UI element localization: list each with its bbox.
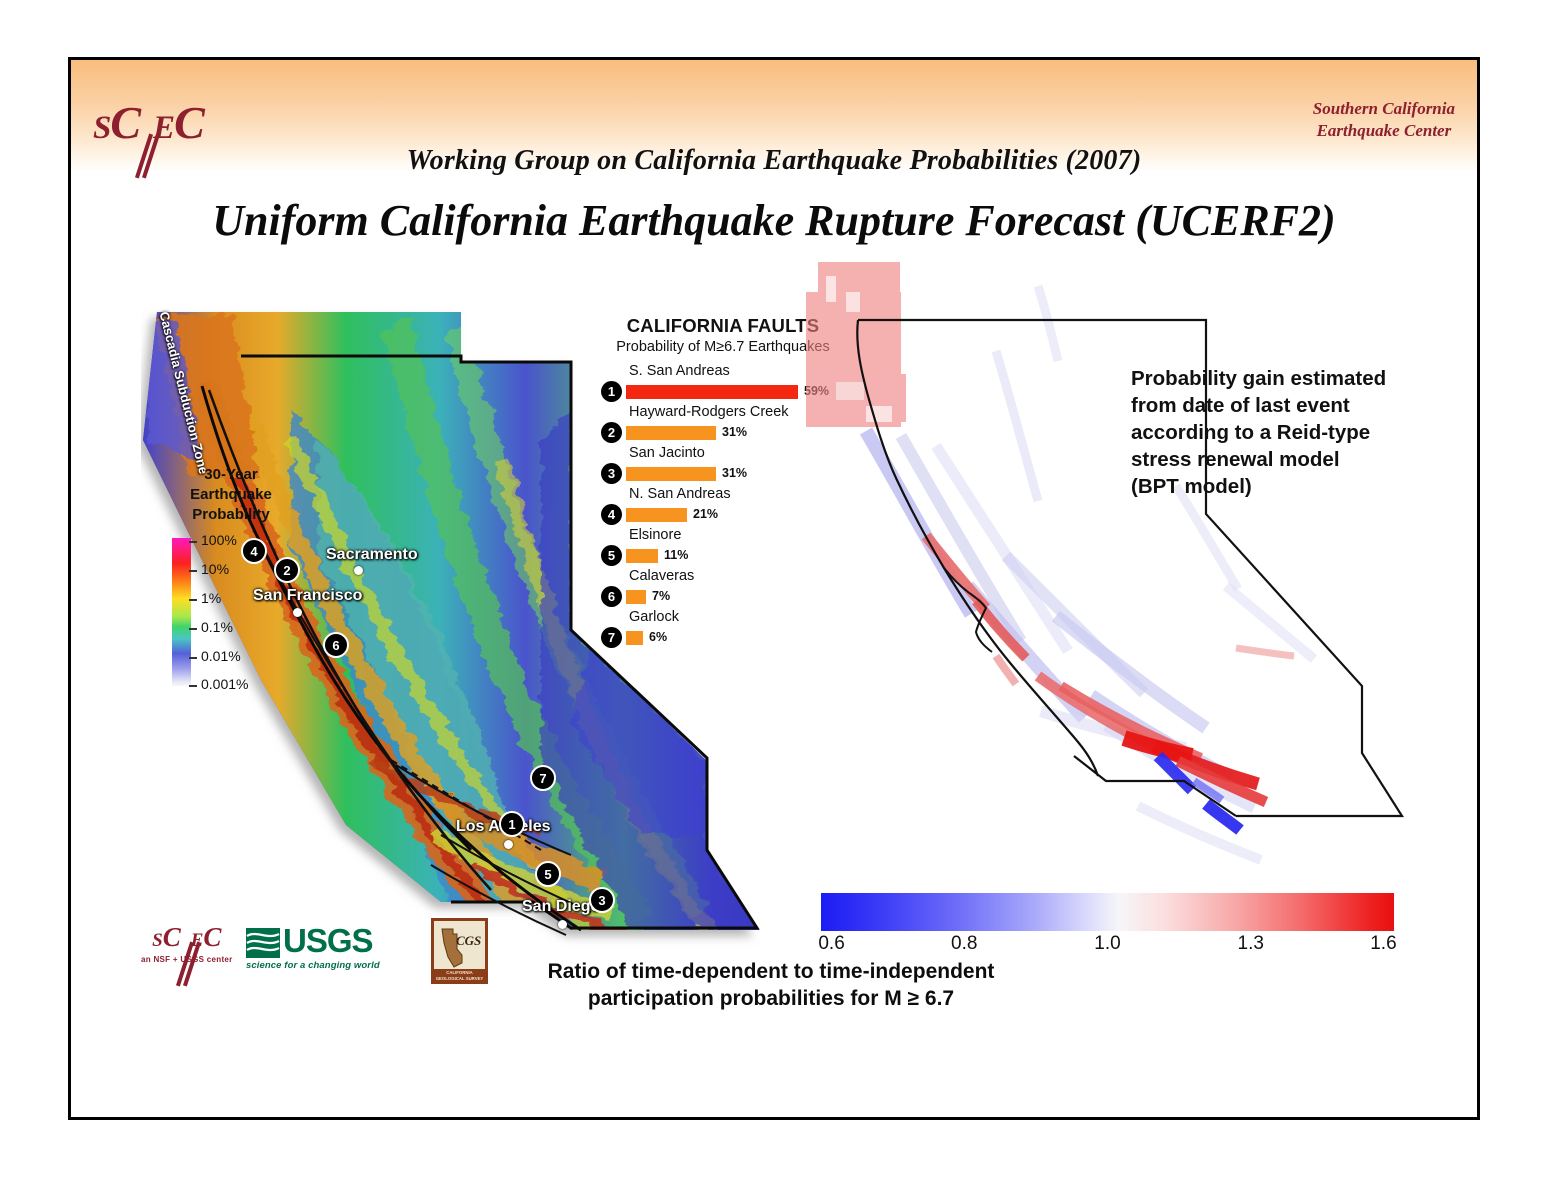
scec-footer-logo: SCEC an NSF + USGS center	[141, 922, 233, 964]
probability-scale: 100% 10% 1% 0.1% 0.01% 0.001%	[156, 538, 306, 688]
fault-name: Elsinore	[629, 527, 681, 543]
cgs-wordmark: CGS	[456, 933, 481, 949]
fault-badge-3[interactable]: 3	[601, 463, 622, 484]
fault-percent: 11%	[664, 548, 688, 562]
working-group-subtitle: Working Group on California Earthquake P…	[71, 145, 1477, 177]
fault-name: S. San Andreas	[629, 363, 730, 379]
fault-bar	[626, 590, 646, 604]
fault-badge-7[interactable]: 7	[601, 627, 622, 648]
city-dot-los-angeles	[504, 840, 513, 849]
scec-logo: SCEC	[93, 96, 204, 149]
fault-badge-5[interactable]: 5	[601, 545, 622, 566]
city-dot-sacramento	[354, 566, 363, 575]
scec-footer-acronym: SCEC	[141, 922, 233, 953]
probability-tick-label-1: 1%	[201, 590, 221, 606]
scec-logo-c: C	[110, 97, 140, 148]
ratio-caption-line1: Ratio of time-dependent to time-independ…	[431, 958, 1111, 985]
fault-bar	[626, 508, 687, 522]
probability-gain-description: Probability gain estimatedfrom date of l…	[1131, 365, 1451, 500]
probability-tick-mark-4	[189, 657, 197, 659]
fault-marker-1[interactable]: 1	[499, 811, 525, 837]
fault-bar	[626, 426, 716, 440]
fault-bar	[626, 385, 798, 399]
probability-legend-title-line2: Earthquake	[156, 485, 306, 505]
cascadia-gain-block	[806, 262, 906, 427]
city-dot-san-diego	[558, 920, 567, 929]
probability-tick-mark-0	[189, 541, 197, 543]
ratio-tick-1.6: 1.6	[1370, 933, 1396, 955]
right-map-panel	[806, 256, 1426, 916]
probability-tick-mark-1	[189, 570, 197, 572]
ratio-tick-0.8: 0.8	[951, 933, 977, 955]
fault-percent: 21%	[693, 507, 718, 521]
fault-percent: 7%	[652, 589, 670, 603]
gain-description-line-3: according to a Reid-type	[1131, 419, 1451, 446]
scec-logo-c2: C	[174, 97, 204, 148]
fault-bar	[626, 467, 716, 481]
probability-tick-label-0-1: 0.1%	[201, 619, 233, 635]
probability-tick-mark-3	[189, 628, 197, 630]
fault-badge-4[interactable]: 4	[601, 504, 622, 525]
fault-bar	[626, 549, 658, 563]
fault-percent: 6%	[649, 630, 667, 644]
probability-tick-label-100: 100%	[201, 532, 237, 548]
fault-name: San Jacinto	[629, 445, 705, 461]
usgs-wordmark-row: USGS	[246, 924, 380, 958]
fault-marker-6[interactable]: 6	[323, 632, 349, 658]
usgs-wordmark: USGS	[283, 922, 373, 959]
fault-name: Hayward-Rodgers Creek	[629, 404, 789, 420]
fault-bar	[626, 631, 643, 645]
usgs-wave-icon	[246, 928, 280, 958]
fault-name: Calaveras	[629, 568, 694, 584]
ratio-colorbar	[821, 893, 1394, 931]
org-name-line2: Earthquake Center	[1313, 120, 1455, 142]
probability-tick-mark-5	[189, 685, 197, 687]
gain-description-line-1: Probability gain estimated	[1131, 365, 1451, 392]
org-name: Southern California Earthquake Center	[1313, 98, 1455, 142]
logo-strip: SCEC an NSF + USGS center USGS science f…	[141, 918, 471, 988]
probability-tick-label-0-01: 0.01%	[201, 648, 241, 664]
probability-legend-title-line3: Probability	[156, 505, 306, 525]
ratio-tick-1.3: 1.3	[1238, 933, 1264, 955]
city-label-sacramento: Sacramento	[326, 546, 418, 564]
fault-marker-7[interactable]: 7	[530, 765, 556, 791]
probability-colorbar	[172, 538, 191, 686]
probability-legend-title-line1: 30-Year	[156, 465, 306, 485]
ratio-tick-1.0: 1.0	[1094, 933, 1120, 955]
probability-color-legend: 30-Year Earthquake Probability 100% 10% …	[156, 465, 306, 688]
usgs-tagline: science for a changing world	[246, 960, 380, 971]
probability-gain-map	[806, 256, 1426, 916]
org-name-line1: Southern California	[1313, 98, 1455, 120]
fault-name: Garlock	[629, 609, 679, 625]
poster-frame: SCEC Southern California Earthquake Cent…	[68, 57, 1480, 1120]
gain-description-line-4: stress renewal model	[1131, 446, 1451, 473]
fault-badge-6[interactable]: 6	[601, 586, 622, 607]
probability-legend-title: 30-Year Earthquake Probability	[156, 465, 306, 524]
ratio-tick-0.6: 0.6	[818, 933, 844, 955]
ratio-colorbar-caption: Ratio of time-dependent to time-independ…	[431, 958, 1111, 1013]
page-title: Uniform California Earthquake Rupture Fo…	[71, 195, 1477, 246]
gain-description-line-2: from date of last event	[1131, 392, 1451, 419]
scec-footer-s: S	[152, 930, 163, 951]
usgs-logo: USGS science for a changing world	[246, 924, 380, 971]
fault-marker-5[interactable]: 5	[535, 861, 561, 887]
probability-tick-label-0-001: 0.001%	[201, 676, 248, 692]
gain-description-line-5: (BPT model)	[1131, 473, 1451, 500]
ratio-caption-line2: participation probabilities for M ≥ 6.7	[431, 985, 1111, 1012]
scec-logo-s: S	[93, 110, 110, 146]
fault-percent: 31%	[722, 466, 747, 480]
fault-percent: 31%	[722, 425, 747, 439]
ratio-colorbar-group: 0.60.81.01.31.6	[821, 893, 1401, 931]
probability-tick-mark-2	[189, 599, 197, 601]
fault-marker-3[interactable]: 3	[589, 887, 615, 913]
fault-name: N. San Andreas	[629, 486, 731, 502]
scec-footer-c2: C	[203, 922, 221, 952]
probability-tick-label-10: 10%	[201, 561, 229, 577]
fault-badge-2[interactable]: 2	[601, 422, 622, 443]
scec-footer-c: C	[163, 922, 181, 952]
fault-badge-1[interactable]: 1	[601, 381, 622, 402]
